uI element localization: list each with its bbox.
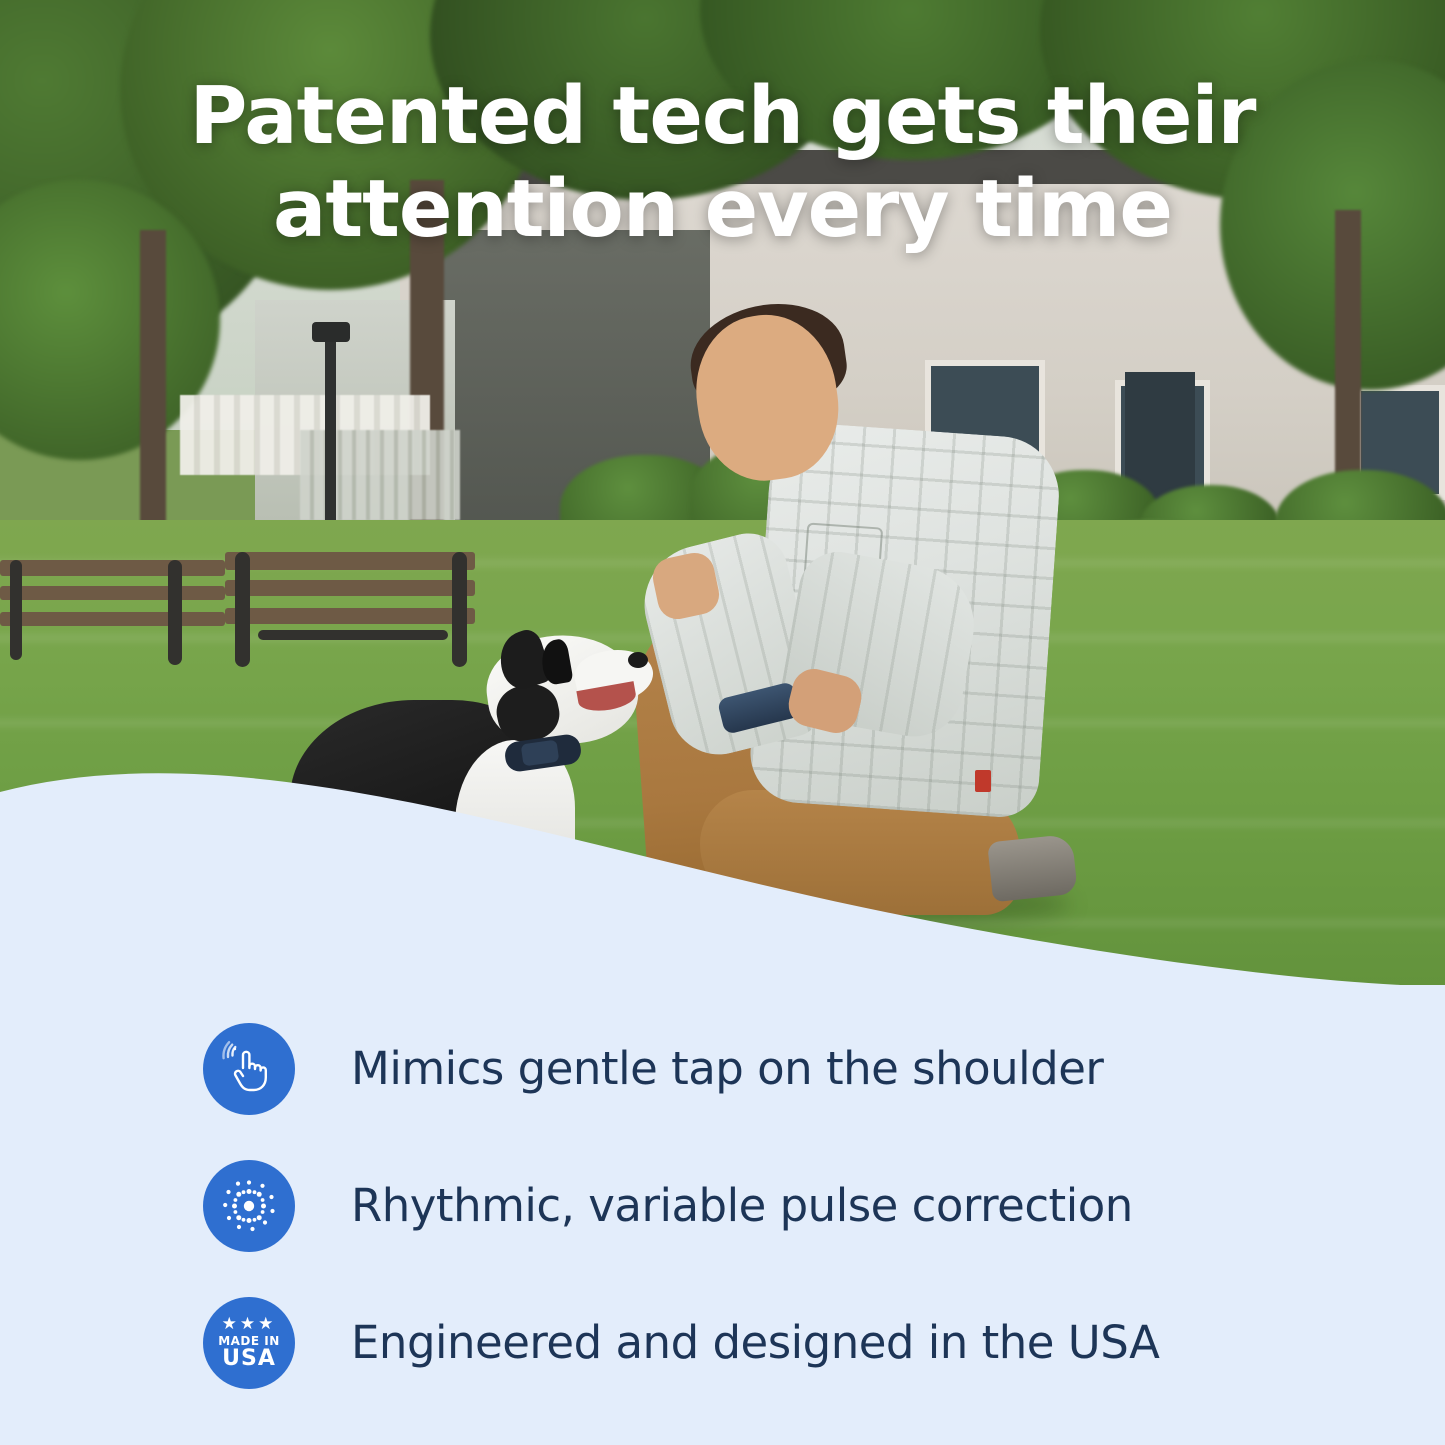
- tree-trunk: [140, 230, 166, 550]
- man-shoe: [987, 834, 1078, 903]
- metal-fence: [300, 430, 460, 520]
- feature-label: Mimics gentle tap on the shoulder: [351, 1044, 1103, 1094]
- feature-list: Mimics gentle tap on the shoulder: [0, 1000, 1445, 1411]
- pulse-burst-icon: [203, 1160, 295, 1252]
- shirt-tag: [975, 770, 991, 792]
- badge-stars: ★★★: [222, 1315, 277, 1332]
- headline-line-1: Patented tech gets their: [0, 70, 1445, 163]
- dog-nose: [628, 652, 648, 668]
- tap-finger-icon: [203, 1023, 295, 1115]
- badge-usa: USA: [222, 1347, 276, 1370]
- page-title: Patented tech gets their attention every…: [0, 70, 1445, 256]
- feature-item-pulse: Rhythmic, variable pulse correction: [0, 1137, 1445, 1274]
- headline-line-2: attention every time: [0, 163, 1445, 256]
- product-feature-card: Patented tech gets their attention every…: [0, 0, 1445, 1445]
- made-in-usa-badge-icon: ★★★ MADE IN USA: [203, 1297, 295, 1389]
- feature-label: Rhythmic, variable pulse correction: [351, 1181, 1133, 1231]
- dog-front-leg: [470, 845, 542, 917]
- feature-item-usa: ★★★ MADE IN USA Engineered and designed …: [0, 1274, 1445, 1411]
- feature-label: Engineered and designed in the USA: [351, 1318, 1159, 1368]
- feature-item-tap: Mimics gentle tap on the shoulder: [0, 1000, 1445, 1137]
- lamp-head: [312, 322, 350, 342]
